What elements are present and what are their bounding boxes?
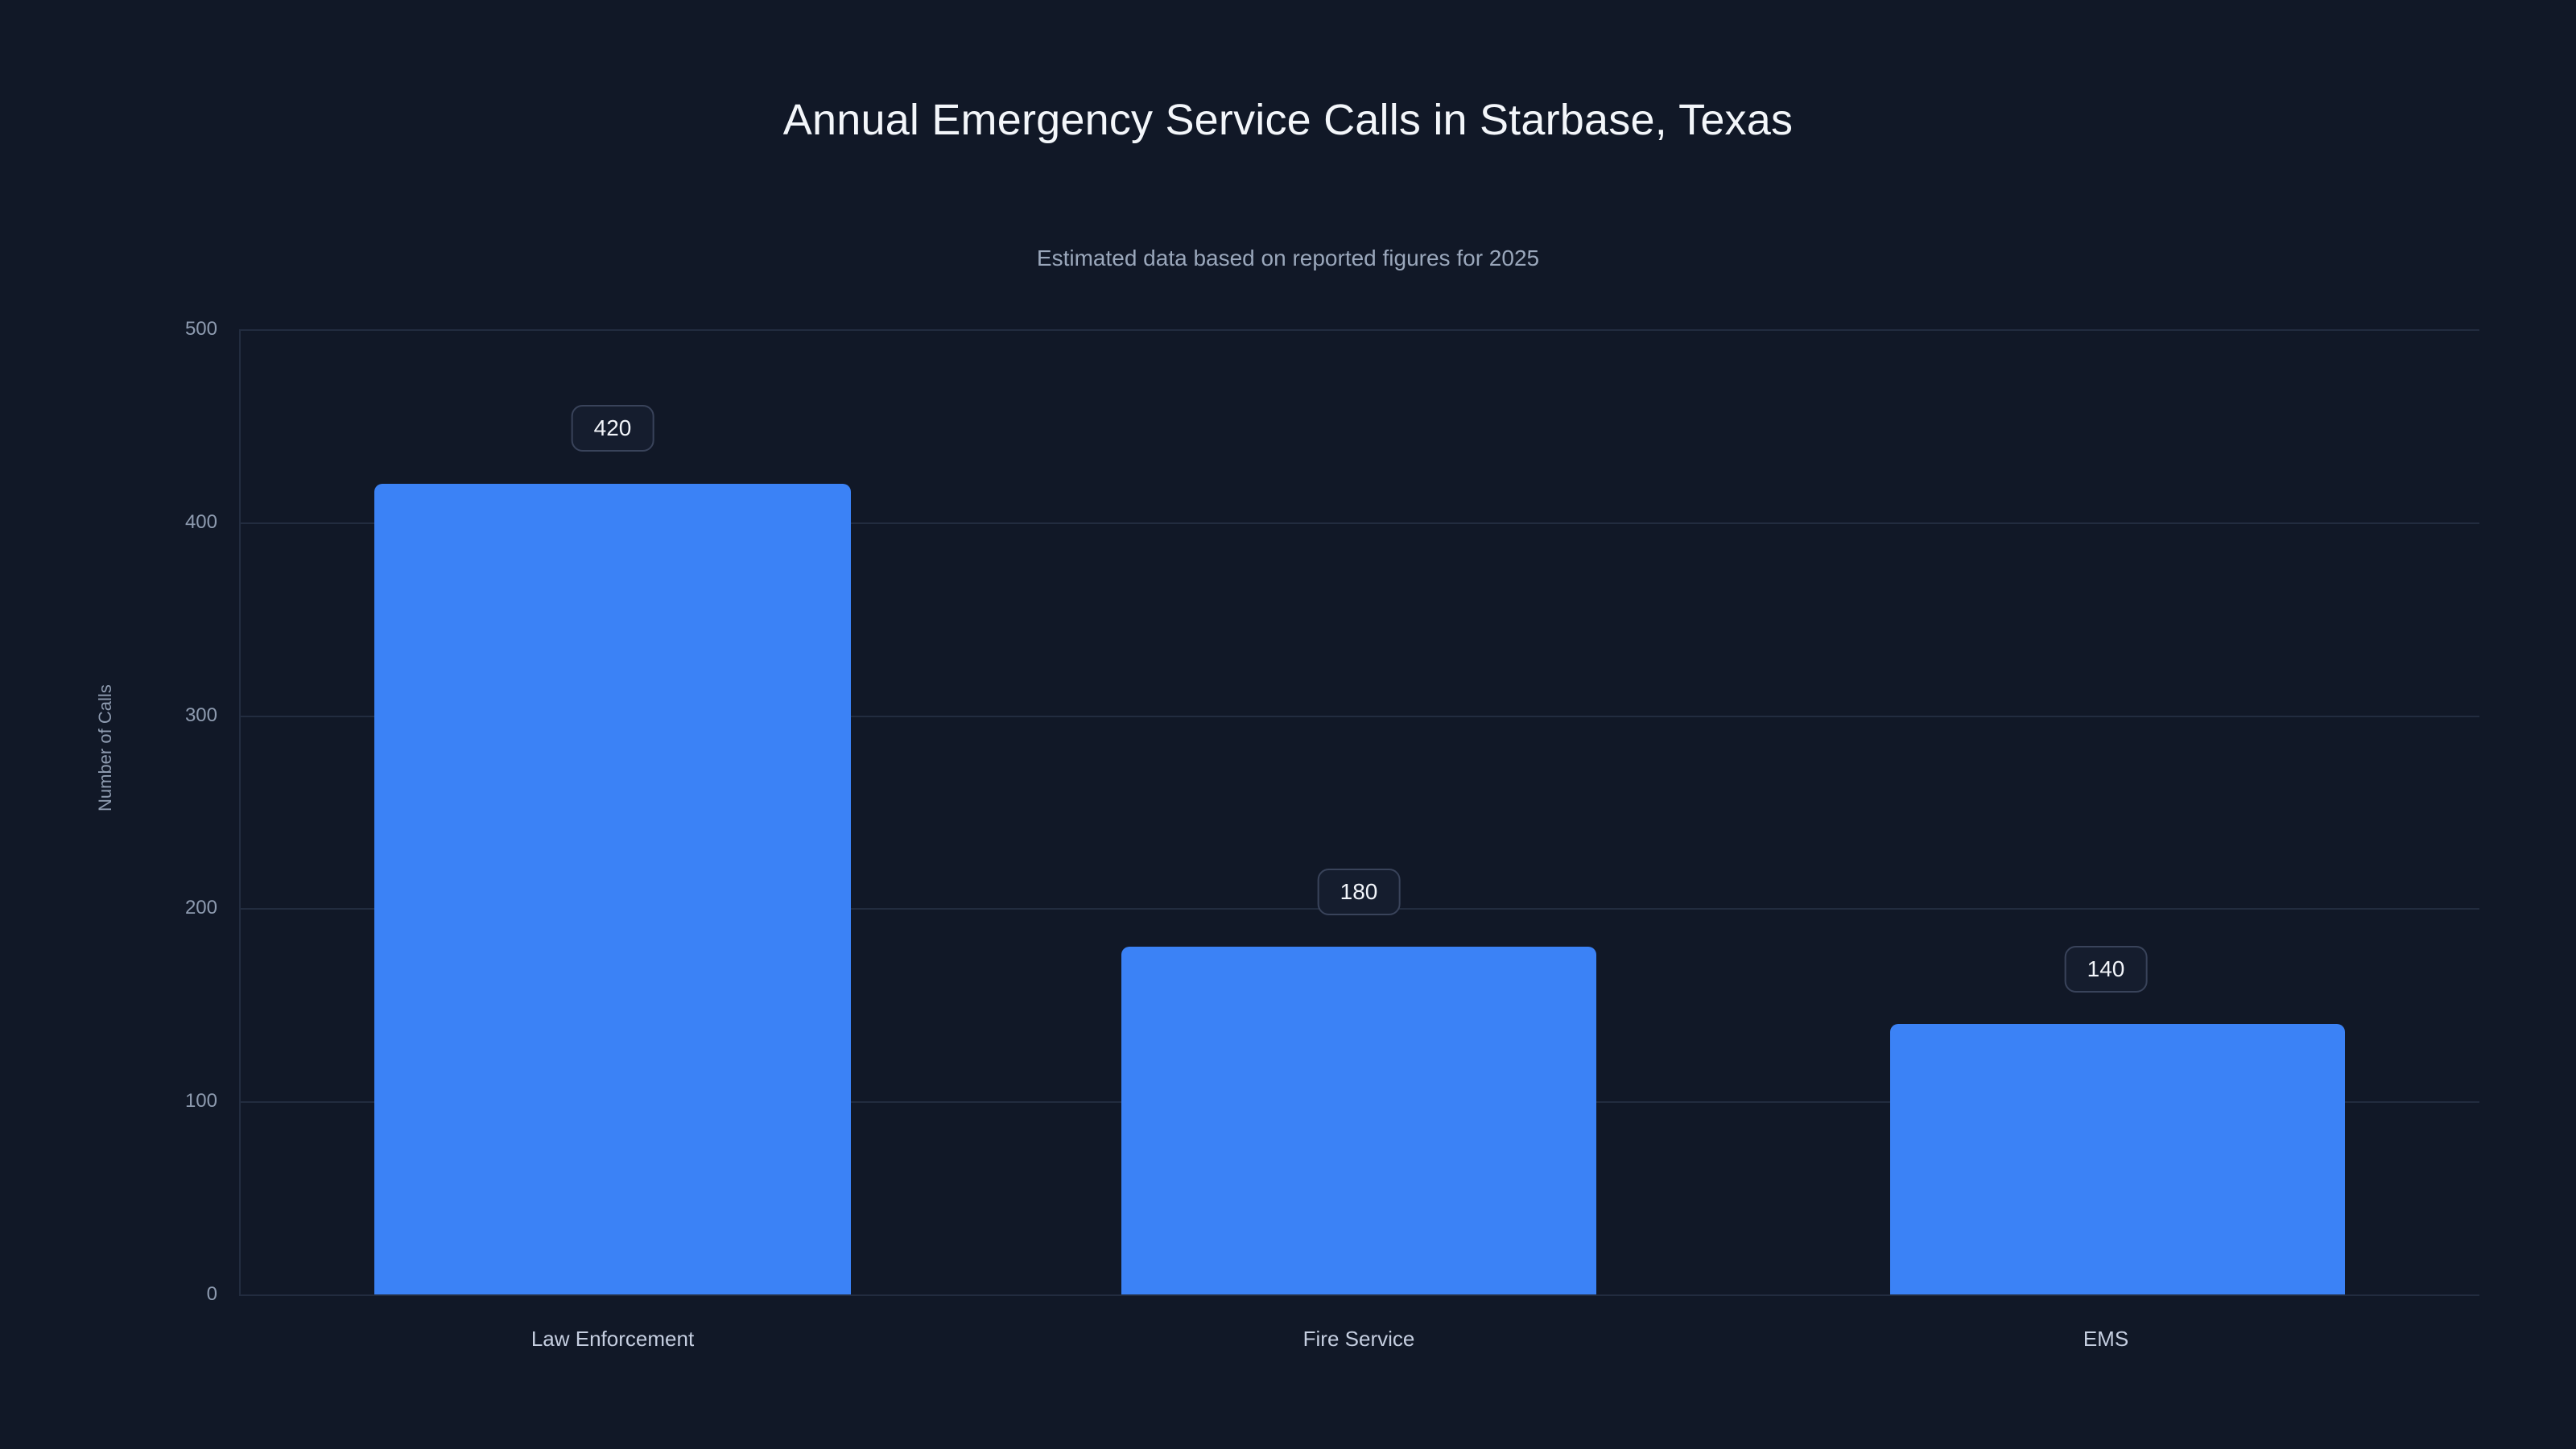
y-tick-400: 400 (129, 511, 217, 534)
x-tick-ems: EMS (2083, 1327, 2128, 1352)
value-badge-ems: 140 (2065, 946, 2148, 993)
y-tick-100: 100 (129, 1090, 217, 1113)
bar-law-enforcement[interactable] (374, 484, 851, 1294)
plot-area (239, 329, 2479, 1294)
chart-subtitle: Estimated data based on reported figures… (0, 246, 2576, 271)
bar-fire-service[interactable] (1121, 947, 1596, 1294)
x-tick-law-enforcement: Law Enforcement (531, 1327, 694, 1352)
value-badge-fire-service: 180 (1318, 869, 1401, 915)
y-tick-500: 500 (129, 318, 217, 341)
gridline-500 (239, 329, 2479, 331)
x-axis-line (239, 1294, 2479, 1296)
x-tick-fire-service: Fire Service (1303, 1327, 1415, 1352)
chart-title: Annual Emergency Service Calls in Starba… (0, 95, 2576, 145)
y-tick-0: 0 (129, 1283, 217, 1306)
value-badge-law-enforcement: 420 (572, 405, 654, 452)
chart-container: Annual Emergency Service Calls in Starba… (0, 0, 2576, 1449)
bar-ems[interactable] (1890, 1024, 2345, 1294)
y-axis-title: Number of Calls (95, 684, 116, 811)
y-tick-200: 200 (129, 897, 217, 919)
y-tick-300: 300 (129, 704, 217, 727)
